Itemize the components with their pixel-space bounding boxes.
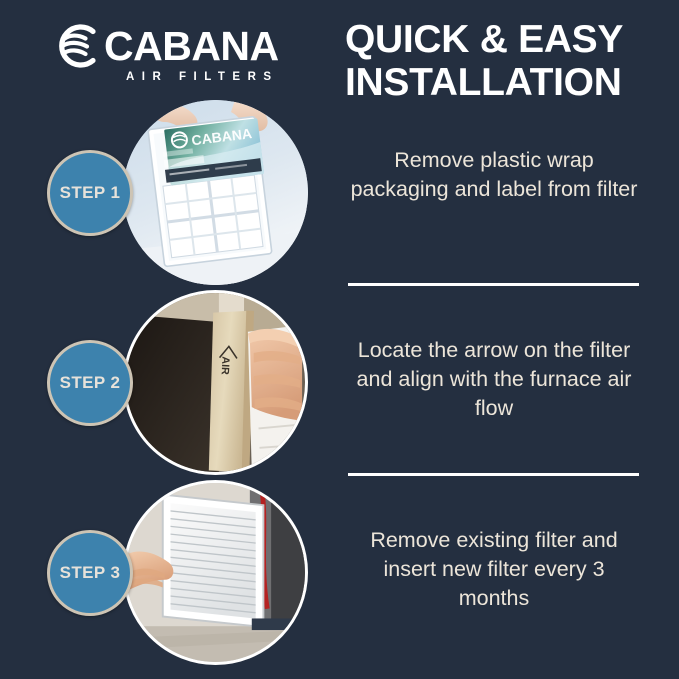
step-3-photo bbox=[123, 480, 308, 665]
installation-infographic: CABANA AIR FILTERS QUICK & EASY INSTALLA… bbox=[0, 0, 679, 679]
step-2-photo-inner: AIR bbox=[126, 293, 305, 472]
page-title-line1: QUICK & EASY bbox=[345, 18, 623, 61]
step-2-badge-label: STEP 2 bbox=[60, 373, 121, 393]
brand-name: CABANA bbox=[104, 24, 279, 68]
step-3-description: Remove existing filter and insert new fi… bbox=[348, 526, 640, 613]
divider-2 bbox=[348, 473, 639, 476]
step-2-description: Locate the arrow on the filter and align… bbox=[348, 336, 640, 423]
page-title: QUICK & EASY INSTALLATION bbox=[345, 18, 645, 104]
step-2-badge: STEP 2 bbox=[47, 340, 133, 426]
cabana-wave-circle-logo-icon bbox=[52, 22, 100, 70]
step-2-photo: AIR bbox=[123, 290, 308, 475]
step-1-description: Remove plastic wrap packaging and label … bbox=[348, 146, 640, 204]
brand-logo: CABANA AIR FILTERS bbox=[52, 22, 302, 88]
svg-text:AIR: AIR bbox=[219, 356, 232, 375]
step-3-badge: STEP 3 bbox=[47, 530, 133, 616]
divider-1 bbox=[348, 283, 639, 286]
brand-logo-row: CABANA bbox=[52, 22, 302, 70]
step-1-photo-inner: CABANA bbox=[123, 100, 308, 285]
step-1-badge-label: STEP 1 bbox=[60, 183, 121, 203]
brand-tagline: AIR FILTERS bbox=[126, 71, 302, 83]
step-3-badge-label: STEP 3 bbox=[60, 563, 121, 583]
step-1-badge: STEP 1 bbox=[47, 150, 133, 236]
step-3-photo-inner bbox=[126, 483, 305, 662]
page-title-line2: INSTALLATION bbox=[345, 61, 645, 104]
step-1-photo: CABANA bbox=[123, 100, 308, 285]
